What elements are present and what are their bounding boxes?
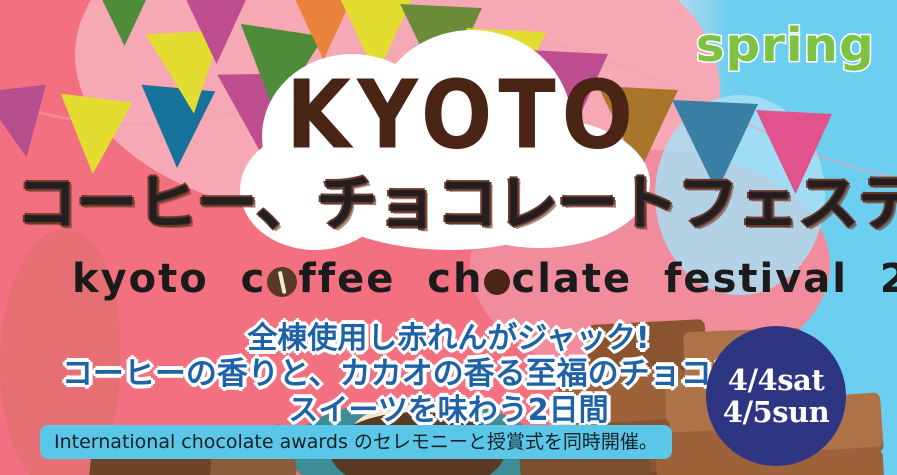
english-title-word-coffee-pre: c xyxy=(241,256,267,302)
awards-banner: International chocolate awards のセレモニーと授賞… xyxy=(40,425,672,459)
english-title-space-3 xyxy=(648,256,664,302)
english-title: kyoto cffee chclate festival 2026 xyxy=(72,256,897,302)
english-title-word-choc-pre: ch xyxy=(427,256,483,302)
date-line-1: 4/4sat xyxy=(728,364,824,396)
english-title-space-2 xyxy=(411,256,427,302)
season-label: spring xyxy=(696,18,875,72)
japanese-title: コーヒー、チョコレートフェスティバル xyxy=(16,174,897,234)
english-title-year: 2026 xyxy=(880,256,897,302)
page-title-text: KYOTO xyxy=(286,60,639,170)
flag-yellow-1 xyxy=(55,94,132,177)
english-title-space-1 xyxy=(225,256,241,302)
flag-blue-1 xyxy=(139,85,216,170)
english-title-word-choc-tail: late xyxy=(537,256,632,302)
english-title-word-festival: festival xyxy=(664,256,848,302)
english-title-word-choc-mid: c xyxy=(511,256,537,302)
flag-magenta-1 xyxy=(0,81,58,163)
english-title-word-coffee-post: ffee xyxy=(298,256,395,302)
date-line-2: 4/5sun xyxy=(723,396,829,428)
page-title: KYOTO xyxy=(286,68,639,162)
date-badge: 4/4sat 4/5sun xyxy=(706,326,846,466)
english-title-space-4 xyxy=(864,256,880,302)
poster-canvas: spring KYOTO コーヒー、チョコレートフェスティバル kyoto cf… xyxy=(0,0,897,475)
chocolate-dot-icon xyxy=(484,269,510,295)
coffee-bean-icon xyxy=(263,263,301,301)
english-title-word-kyoto: kyoto xyxy=(72,256,209,302)
